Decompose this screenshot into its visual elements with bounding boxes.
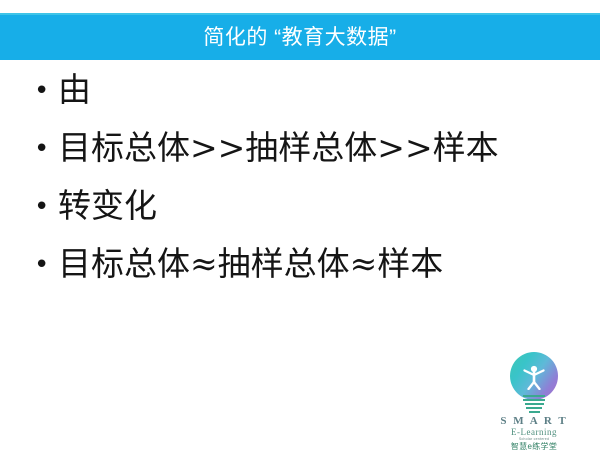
brand-logo: S M A R T E-Learning Scholar centered 智慧… (497, 352, 571, 446)
list-item: • 由 (34, 72, 574, 130)
brand-name-chinese: 智慧e练学堂 (497, 442, 571, 450)
bulb-base-rung (523, 399, 545, 401)
bullet-point-icon: • (34, 194, 58, 220)
lightbulb-person-icon (497, 352, 571, 414)
bulb-base-rung (529, 411, 540, 413)
bullet-text: 目标总体>>抽样总体>>样本 (58, 130, 574, 167)
list-item: • 目标总体>>抽样总体>>样本 (34, 130, 574, 188)
bullet-text: 目标总体≈抽样总体≈样本 (58, 246, 574, 283)
brand-name-smart: S M A R T (497, 415, 571, 427)
bullet-point-icon: • (34, 136, 58, 162)
bullet-point-icon: • (34, 78, 58, 104)
lightbulb-base-icon (523, 393, 545, 413)
bullet-text: 转变化 (58, 188, 574, 225)
bullet-point-icon: • (34, 252, 58, 278)
page-title: 简化的 “教育大数据” (203, 27, 396, 48)
list-item: • 目标总体≈抽样总体≈样本 (34, 246, 574, 304)
person-figure-icon (521, 364, 547, 390)
brand-name-elearning: E-Learning (497, 427, 571, 437)
slide-title-bar: 简化的 “教育大数据” (0, 13, 600, 60)
bulb-base-rung (523, 395, 545, 397)
bulb-base-rung (525, 403, 544, 405)
bullet-list: • 由 • 目标总体>>抽样总体>>样本 • 转变化 • 目标总体≈抽样总体≈样… (34, 72, 574, 304)
bulb-base-rung (526, 407, 542, 409)
brand-wordmark: S M A R T E-Learning Scholar centered 智慧… (497, 415, 571, 450)
bullet-text: 由 (58, 72, 574, 109)
list-item: • 转变化 (34, 188, 574, 246)
slide-canvas: 简化的 “教育大数据” • 由 • 目标总体>>抽样总体>>样本 • 转变化 •… (0, 0, 600, 450)
